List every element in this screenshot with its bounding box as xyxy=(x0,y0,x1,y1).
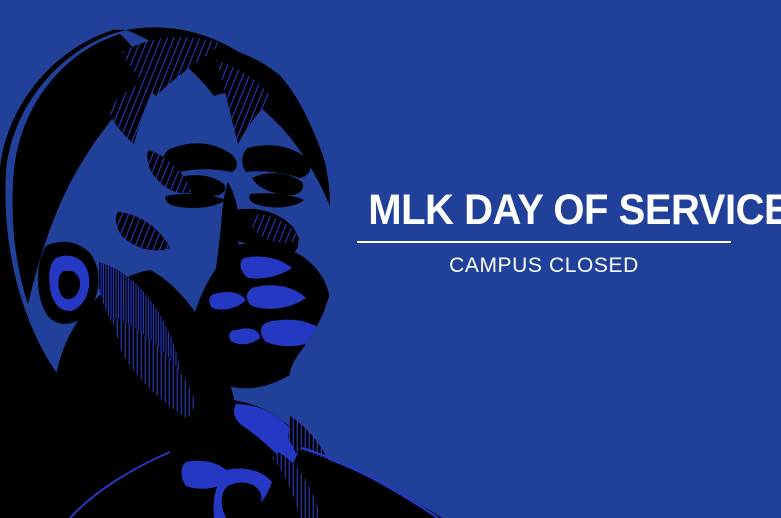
divider xyxy=(357,241,731,243)
banner-text-block: MLK DAY OF SERVICE CAMPUS CLOSED xyxy=(355,188,733,279)
banner-subtitle: CAMPUS CLOSED xyxy=(355,253,733,279)
page-title: MLK DAY OF SERVICE xyxy=(368,188,720,232)
mlk-day-of-service-banner: MLK DAY OF SERVICE CAMPUS CLOSED xyxy=(0,0,781,518)
